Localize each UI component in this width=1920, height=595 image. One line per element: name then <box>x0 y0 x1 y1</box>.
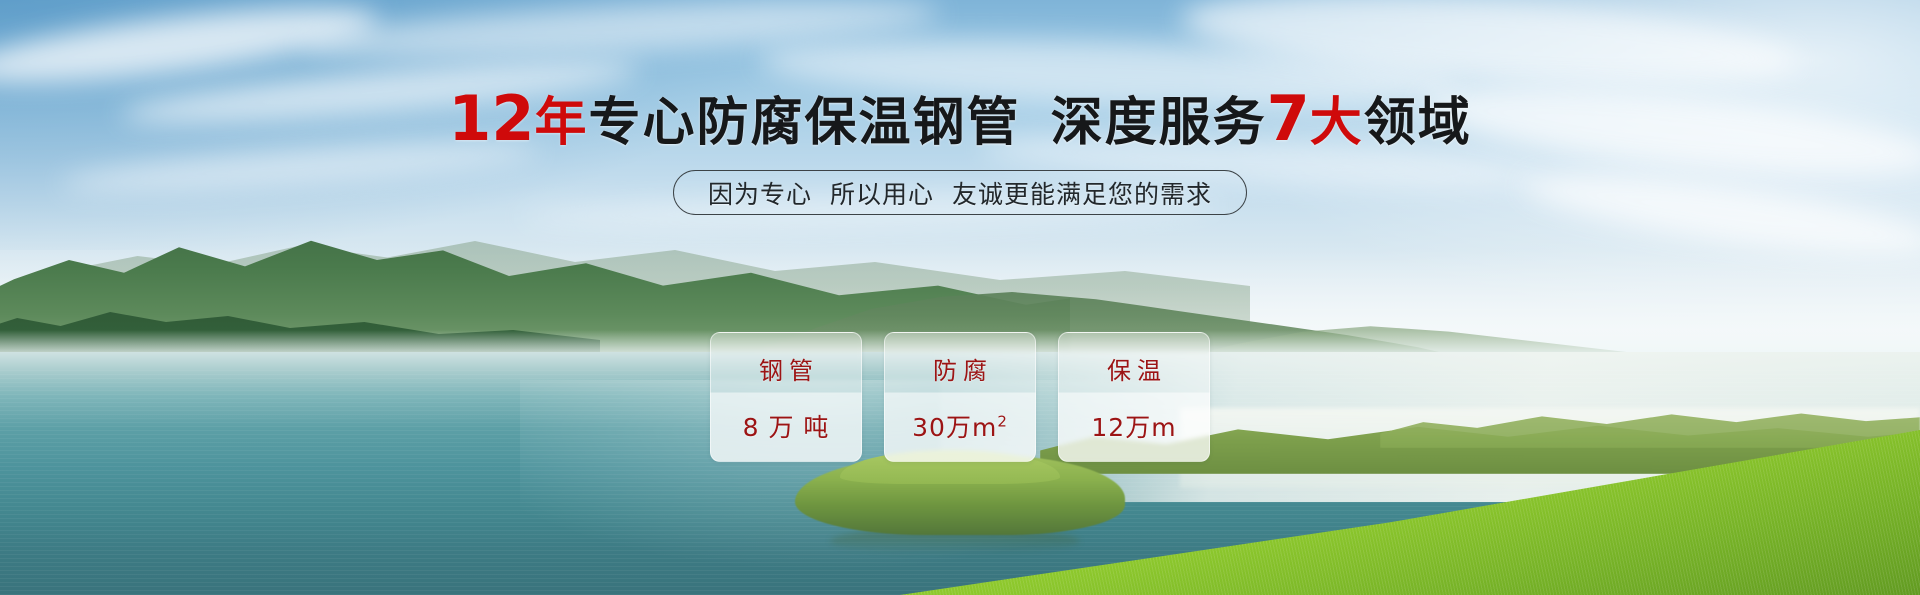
stat-card-anticorrosion[interactable]: 防腐 30万m2 <box>884 332 1036 462</box>
stat-card-steel-pipe[interactable]: 钢管 8 万 吨 <box>710 332 862 462</box>
headline-second-text: 深度服务 <box>1051 93 1267 153</box>
hero-banner: 12年专心防腐保温钢管深度服务7大领域 因为专心所以用心友诚更能满足您的需求 钢… <box>0 0 1920 595</box>
headline-tail-text: 领域 <box>1364 93 1472 153</box>
headline-years-unit: 年 <box>535 93 589 153</box>
headline-main-text: 专心防腐保温钢管 <box>589 93 1021 153</box>
stat-card-title: 钢管 <box>753 351 819 386</box>
stat-card-title: 防腐 <box>927 351 993 386</box>
subtitle-row: 因为专心所以用心友诚更能满足您的需求 <box>0 170 1920 215</box>
subtitle-part-1: 因为专心 <box>708 175 812 211</box>
headline-years-number: 12 <box>448 82 534 155</box>
stat-card-insulation[interactable]: 保温 12万m <box>1058 332 1210 462</box>
subtitle-part-2: 所以用心 <box>830 175 934 211</box>
banner-headline: 12年专心防腐保温钢管深度服务7大领域 <box>0 88 1920 154</box>
stat-card-value: 30万m2 <box>912 408 1008 444</box>
stat-card-row: 钢管 8 万 吨 防腐 30万m2 保温 12万m <box>0 332 1920 462</box>
stat-card-title: 保温 <box>1101 351 1167 386</box>
stat-card-value: 8 万 吨 <box>743 408 830 444</box>
stat-card-value-main: 8 万 吨 <box>743 413 830 442</box>
stat-card-value-exponent: 2 <box>997 412 1008 430</box>
subtitle-pill: 因为专心所以用心友诚更能满足您的需求 <box>673 170 1247 215</box>
stat-card-value-main: 12万m <box>1091 413 1176 442</box>
stat-card-value-main: 30万m <box>912 413 997 442</box>
headline-fields-unit: 大 <box>1310 93 1364 153</box>
subtitle-part-3: 友诚更能满足您的需求 <box>952 175 1212 211</box>
stat-card-value: 12万m <box>1091 408 1176 444</box>
headline-fields-number: 7 <box>1267 82 1310 155</box>
